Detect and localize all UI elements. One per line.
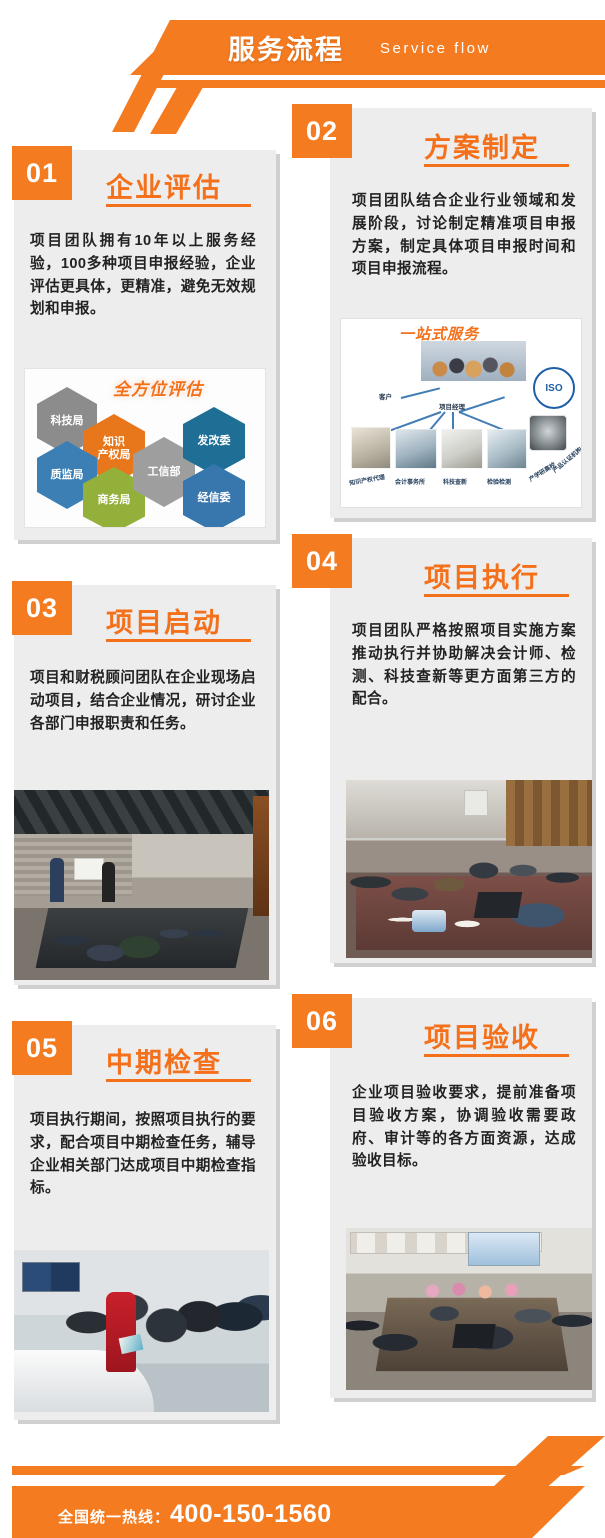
photo-wood-panel <box>253 796 269 916</box>
photo-attendees <box>346 828 592 946</box>
page-footer: 全国统一热线：400-150-1560 <box>0 1418 605 1538</box>
step-title-04: 项目执行 <box>424 556 540 595</box>
header-accent-stripe <box>152 80 605 88</box>
hotline-phone-number: 400-150-1560 <box>170 1500 332 1528</box>
photo-laptop-open <box>452 1324 495 1348</box>
step-body-05: 项目执行期间，按照项目执行的要求，配合项目中期检查任务，辅导企业相关部门达成项目… <box>30 1109 256 1200</box>
hexagon-assessment-diagram: 全方位评估 科技局 知识产权局 质监局 商务局 工信部 发改委 经信委 <box>24 368 266 528</box>
title-underline-01 <box>106 204 251 207</box>
one-stop-service-diagram: 一站式服务 客户 项目经理 ISO 知识产权代理 会计事务所 科技查新 检验检测… <box>340 318 582 508</box>
step-number-badge-04: 04 <box>292 534 352 588</box>
working-session-photo <box>346 780 592 958</box>
header-banner <box>130 20 605 75</box>
photo-person-red-coat <box>106 1292 136 1372</box>
oss-arrow-3 <box>459 396 505 413</box>
step-card-05: 05 中期检查 项目执行期间，按照项目执行的要求，配合项目中期检查任务，辅导企业… <box>14 1025 276 1420</box>
photo-laptop <box>474 892 523 918</box>
photo-certificate-wall <box>350 1232 470 1254</box>
oss-thumb-inspection <box>487 429 527 469</box>
hexagon-diagram-title: 全方位评估 <box>113 375 203 400</box>
step-title-05: 中期检查 <box>106 1041 222 1080</box>
oss-bottom-label-3: 检验检测 <box>487 477 511 486</box>
page-header: 服务流程 Service flow <box>0 0 605 100</box>
oss-label-customer: 客户 <box>379 391 392 401</box>
photo-whiteboard <box>74 858 104 880</box>
step-number-badge-01: 01 <box>12 146 72 200</box>
step-body-01: 项目团队拥有10年以上服务经验，100多种项目申报经验，企业评估更具体，更精准，… <box>30 230 256 321</box>
acceptance-meeting-photo <box>346 1228 592 1390</box>
oss-thumb-accounting <box>395 429 437 469</box>
photo-seated-people <box>32 890 247 974</box>
photo-ac-unit <box>464 790 488 816</box>
step-number-badge-02: 02 <box>292 104 352 158</box>
hexagon-node-label: 科技局 <box>51 415 84 428</box>
hexagon-node-label: 发改委 <box>198 435 231 448</box>
hotline-text: 全国统一热线：400-150-1560 <box>58 1500 332 1529</box>
header-diagonal-tail-thin <box>150 82 206 134</box>
step-body-04: 项目团队严格按照项目实施方案推动执行并协助解决会计师、检测、科技查新等更方面第三… <box>352 620 576 711</box>
step-card-02: 02 方案制定 项目团队结合企业行业领域和发展阶段，讨论制定精准项目申报方案，制… <box>330 108 592 518</box>
oss-thumb-tech-search <box>441 429 483 469</box>
certification-seal-icon: ISO <box>533 367 575 409</box>
title-underline-05 <box>106 1079 251 1082</box>
oss-thumb-university <box>529 415 567 451</box>
hexagon-node-label: 知识产权局 <box>98 436 131 461</box>
step-title-06: 项目验收 <box>424 1016 540 1055</box>
oss-bottom-label-0: 知识产权代理 <box>348 472 385 487</box>
photo-blue-bag <box>412 910 446 932</box>
hexagon-node-label: 工信部 <box>148 466 181 479</box>
page-subtitle: Service flow <box>380 40 491 57</box>
step-number-badge-03: 03 <box>12 581 72 635</box>
step-title-03: 项目启动 <box>106 601 222 640</box>
step-body-02: 项目团队结合企业行业领域和发展阶段，讨论制定精准项目申报方案，制定具体项目申报时… <box>352 190 576 281</box>
title-underline-04 <box>424 594 569 597</box>
oss-bottom-label-1: 会计事务所 <box>395 477 425 486</box>
title-underline-02 <box>424 164 569 167</box>
step-body-03: 项目和财税顾问团队在企业现场启动项目，结合企业情况，研讨企业各部门申报职责和任务… <box>30 667 256 735</box>
step-card-03: 03 项目启动 项目和财税顾问团队在企业现场启动项目，结合企业情况，研讨企业各部… <box>14 585 276 985</box>
photo-projector-screen <box>468 1232 540 1266</box>
meeting-room-photo <box>14 790 269 980</box>
photo-ceiling-grid <box>14 790 269 834</box>
step-card-06: 06 项目验收 企业项目验收要求，提前准备项目验收方案，协调验收需要政府、审计等… <box>330 998 592 1398</box>
title-underline-03 <box>106 639 251 642</box>
step-number-badge-06: 06 <box>292 994 352 1048</box>
oss-arrow-1 <box>401 387 440 399</box>
oss-thumb-ip-agency <box>351 427 391 469</box>
photo-visitor-group <box>64 1264 269 1410</box>
team-photo-thumbnail <box>421 341 526 381</box>
title-underline-06 <box>424 1054 569 1057</box>
step-card-04: 04 项目执行 项目团队严格按照项目实施方案推动执行并协助解决会计师、检测、科技… <box>330 538 592 963</box>
hotline-label: 全国统一热线： <box>58 1509 170 1526</box>
step-body-06: 企业项目验收要求，提前准备项目验收方案，协调验收需要政府、审计等的各方面资源，达… <box>352 1082 576 1173</box>
footer-accent-stripe <box>12 1466 585 1475</box>
hexagon-node-label: 商务局 <box>98 494 131 507</box>
site-visit-photo <box>14 1250 269 1412</box>
hexagon-node-label: 质监局 <box>51 469 84 482</box>
step-title-02: 方案制定 <box>424 126 540 165</box>
page-title: 服务流程 <box>228 28 344 67</box>
step-number-badge-05: 05 <box>12 1021 72 1075</box>
step-title-01: 企业评估 <box>106 166 222 205</box>
hexagon-node-label: 经信委 <box>198 492 231 505</box>
oss-bottom-label-2: 科技查新 <box>443 477 467 486</box>
step-card-01: 01 企业评估 项目团队拥有10年以上服务经验，100多种项目申报经验，企业评估… <box>14 150 276 540</box>
